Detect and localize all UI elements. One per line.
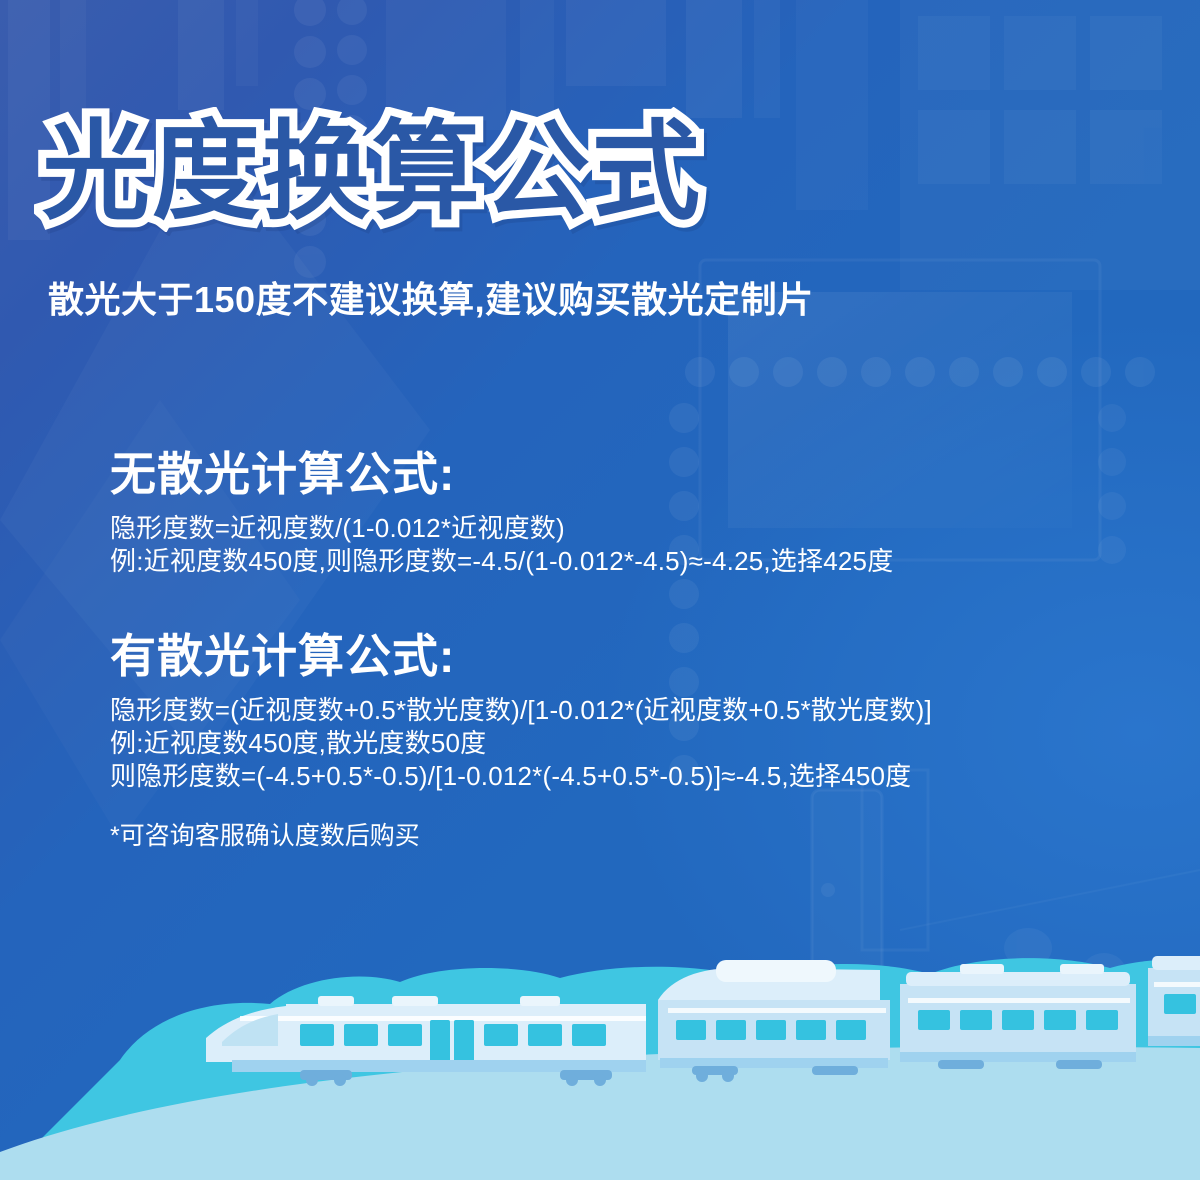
poster-root: 光度换算公式 散光大于150度不建议换算,建议购买散光定制片 无散光计算公式: …: [0, 0, 1200, 1180]
section-heading: 无散光计算公式:: [110, 450, 893, 500]
page-title: 光度换算公式: [42, 118, 702, 226]
formula-line: 隐形度数=(近视度数+0.5*散光度数)/[1-0.012*(近视度数+0.5*…: [110, 694, 932, 727]
formula-example-line: 例:近视度数450度,则隐形度数=-4.5/(1-0.012*-4.5)≈-4.…: [110, 545, 893, 578]
footnote: *可咨询客服确认度数后购买: [110, 820, 420, 853]
section-heading: 有散光计算公式:: [110, 632, 932, 682]
formula-result-line: 则隐形度数=(-4.5+0.5*-0.5)/[1-0.012*(-4.5+0.5…: [110, 760, 932, 793]
formula-example-line: 例:近视度数450度,散光度数50度: [110, 727, 932, 760]
section-no-astigmatism: 无散光计算公式: 隐形度数=近视度数/(1-0.012*近视度数) 例:近视度数…: [110, 450, 893, 578]
formula-line: 隐形度数=近视度数/(1-0.012*近视度数): [110, 512, 893, 545]
page-subtitle: 散光大于150度不建议换算,建议购买散光定制片: [48, 278, 814, 321]
section-with-astigmatism: 有散光计算公式: 隐形度数=(近视度数+0.5*散光度数)/[1-0.012*(…: [110, 632, 932, 793]
train-illustration: [0, 920, 1200, 1180]
